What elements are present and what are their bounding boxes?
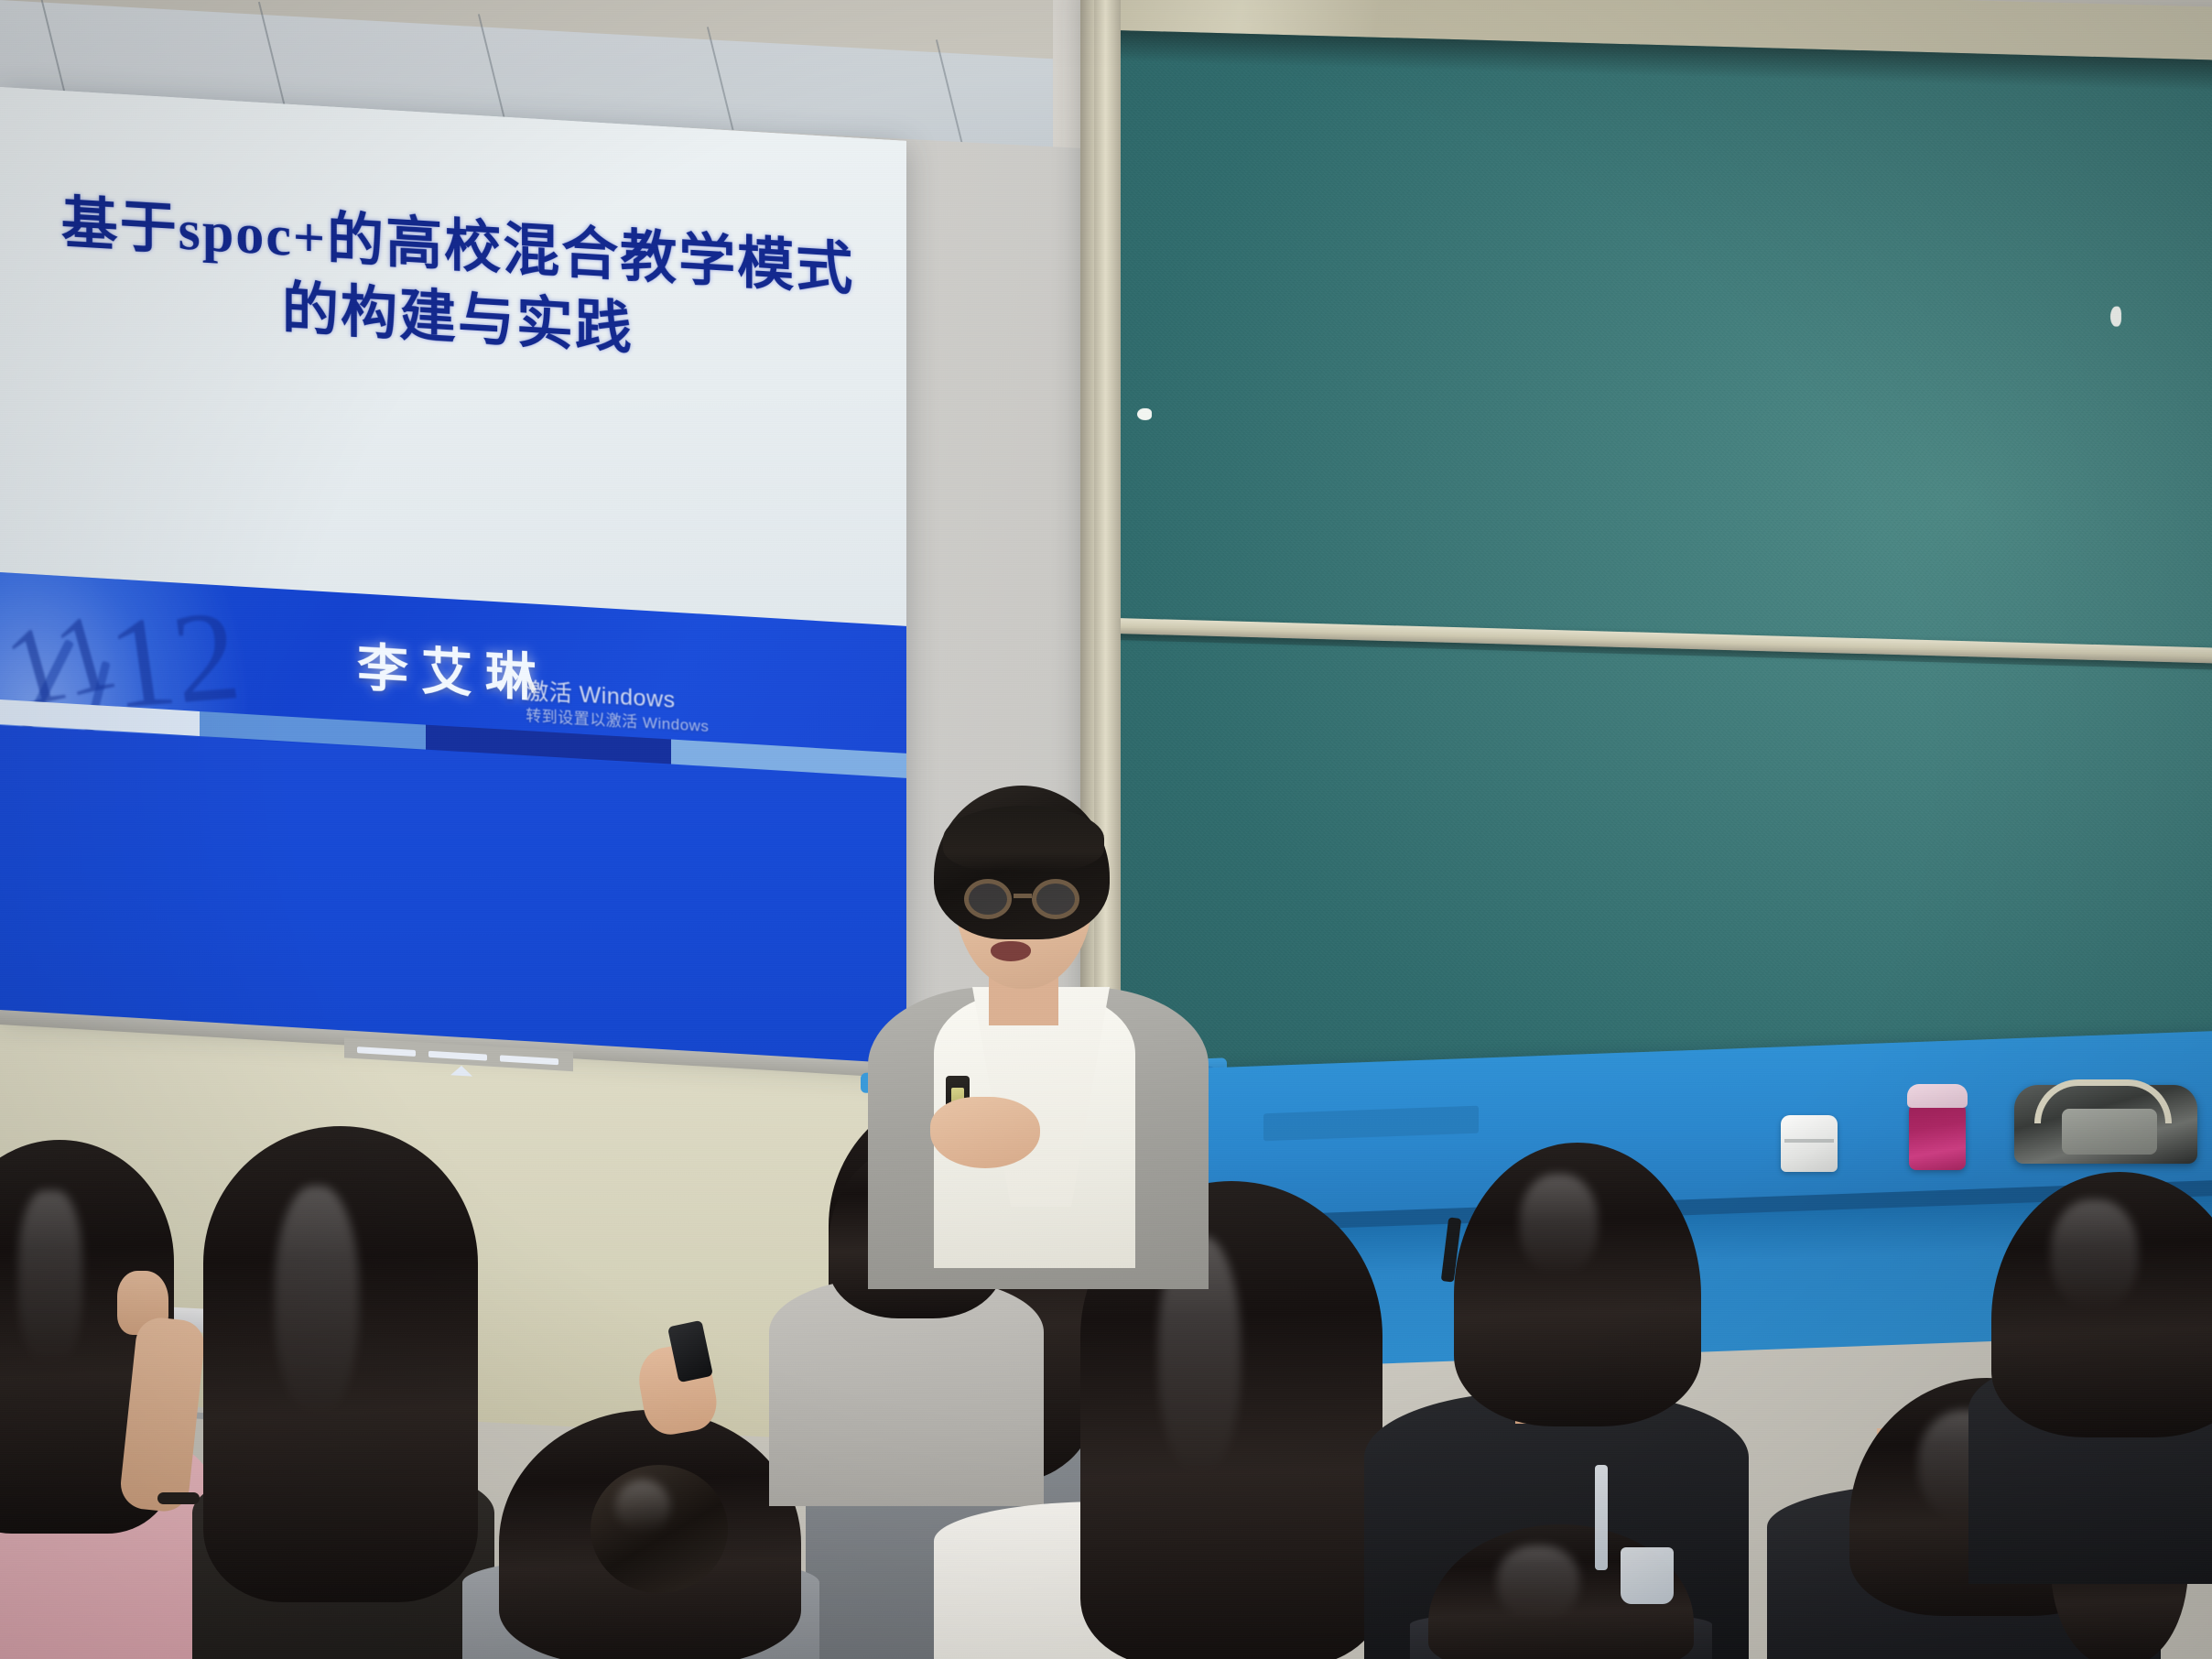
backpack-pocket <box>2062 1109 2157 1155</box>
student-10-hair-gloss <box>1497 1545 1579 1619</box>
presenter-fringe <box>943 806 1104 872</box>
foot-mark-left <box>357 1046 416 1057</box>
paper-cup-right <box>1621 1547 1674 1604</box>
presenter-hands <box>930 1097 1040 1168</box>
glasses-left-lens-icon <box>964 879 1012 919</box>
thermos-cap <box>1907 1084 1968 1108</box>
pink-thermos <box>1909 1099 1966 1170</box>
slide-title: 基于spoc+的高校混合教学模式 的构建与实践 <box>37 186 880 381</box>
lecture-hall-photo: 基于spoc+的高校混合教学模式 的构建与实践 11 12 李艾琳 <box>0 0 2212 1659</box>
presenter-mouth <box>991 941 1031 961</box>
glasses-right-lens-icon <box>1032 879 1079 919</box>
slide-title-area: 基于spoc+的高校混合教学模式 的构建与实践 <box>0 87 906 626</box>
foot-mark-mid <box>428 1051 487 1061</box>
blackboard <box>1080 0 2212 1198</box>
chalk-mark-2 <box>1137 408 1152 420</box>
slide-body-area <box>0 725 906 1066</box>
projection-screen: 基于spoc+的高校混合教学模式 的构建与实践 11 12 李艾琳 <box>0 87 906 1066</box>
blackboard-panel-upper <box>1119 30 2212 1183</box>
foot-triangle-icon <box>450 1065 472 1076</box>
presentation-slide: 基于spoc+的高校混合教学模式 的构建与实践 11 12 李艾琳 <box>0 87 906 1066</box>
pen-right <box>1595 1465 1608 1570</box>
foot-mark-right <box>500 1055 558 1065</box>
chalk-mark-1 <box>2110 306 2121 326</box>
white-cup <box>1781 1115 1838 1172</box>
black-backpack <box>2014 1085 2197 1164</box>
student-9-hair-gloss <box>2051 1199 2138 1309</box>
student-7-hair-gloss <box>1520 1174 1598 1274</box>
student-1-hair-gloss <box>18 1190 82 1364</box>
student-4-bun-gloss <box>615 1480 670 1533</box>
student-2-hair-gloss <box>275 1186 359 1415</box>
student-1-wristband <box>157 1492 200 1504</box>
glasses-bridge-icon <box>1014 894 1032 898</box>
